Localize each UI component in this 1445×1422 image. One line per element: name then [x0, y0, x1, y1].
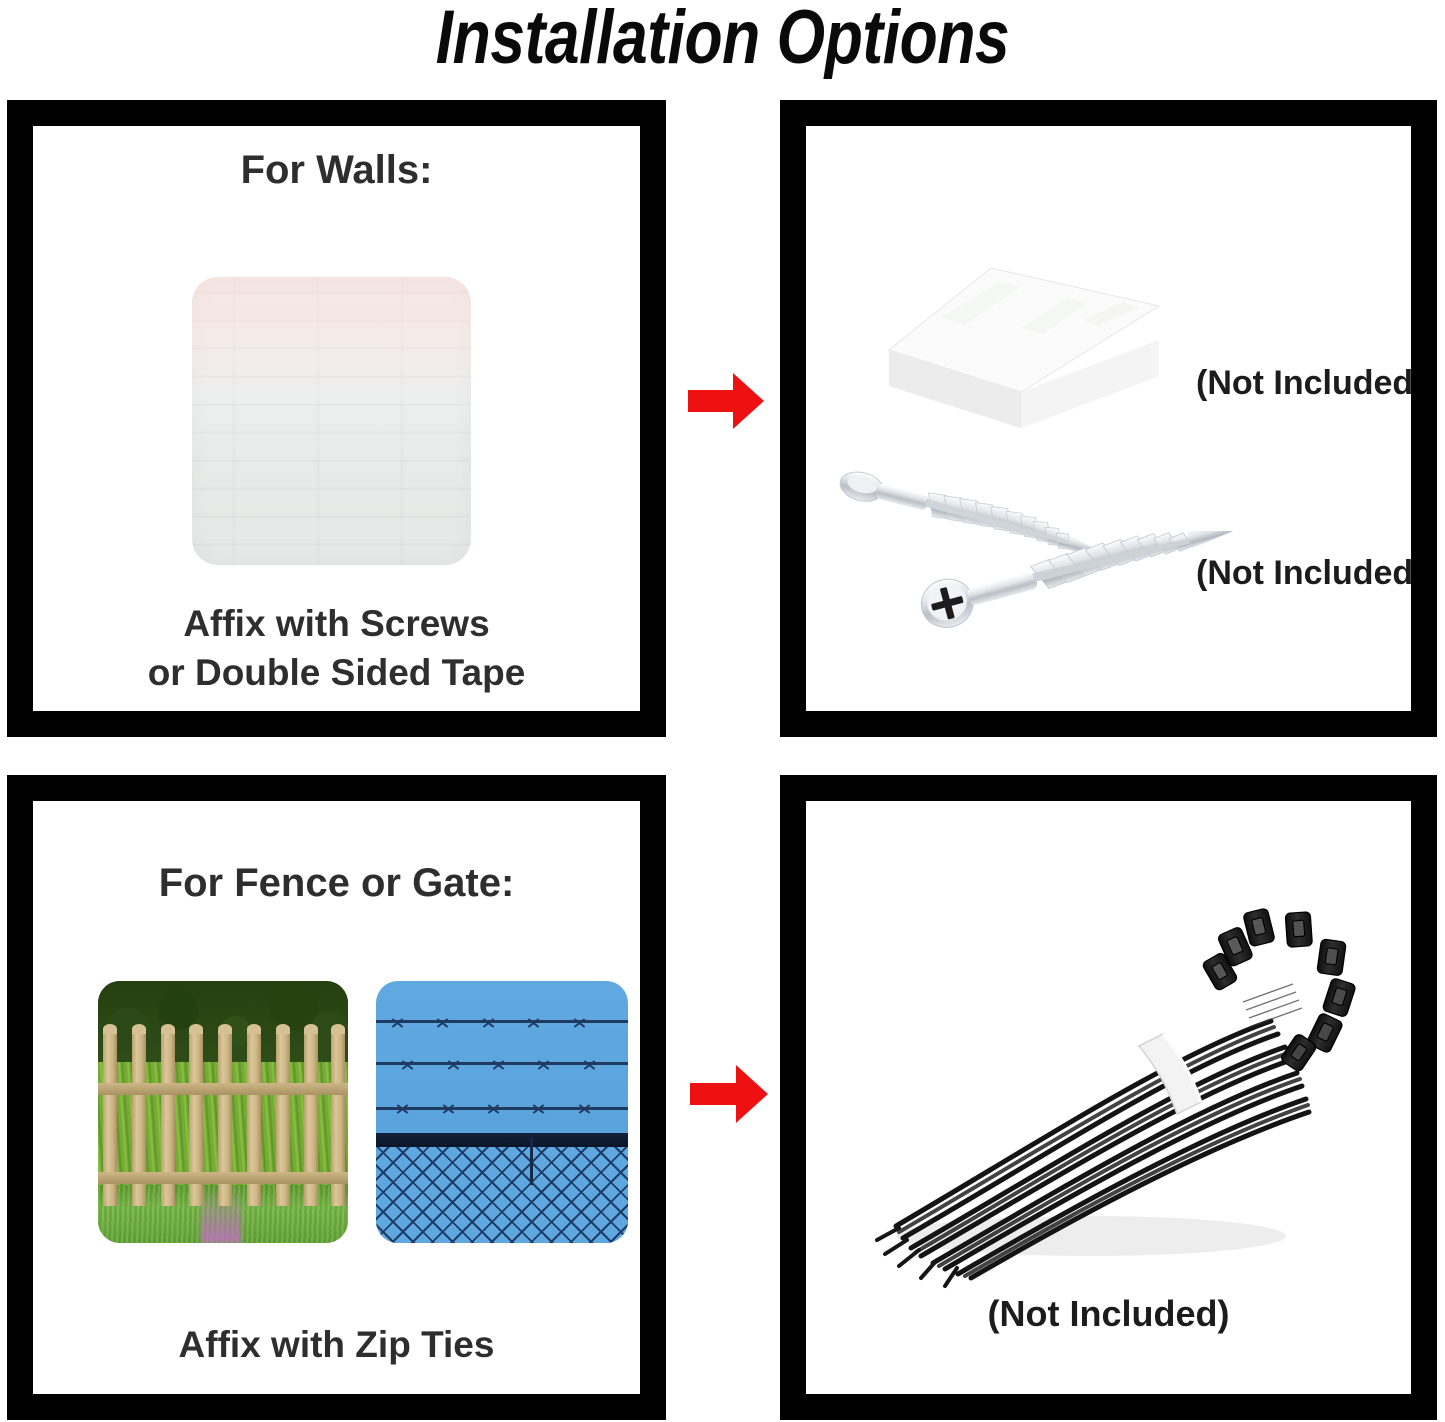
- wooden-picket-fence-photo: [98, 981, 348, 1243]
- walls-caption-line2: or Double Sided Tape: [33, 647, 640, 698]
- page-title: Installation Options: [130, 0, 1315, 80]
- fence-heading: For Fence or Gate:: [33, 861, 640, 906]
- walls-heading: For Walls:: [33, 148, 640, 193]
- white-brick-wall-swatch: [192, 277, 471, 565]
- black-zip-tie-bundle: [841, 906, 1361, 1296]
- ziptie-not-included-label: (Not Included): [806, 1289, 1411, 1339]
- red-right-arrow: [686, 370, 766, 432]
- panel-for-walls: For Walls: Affix with Screws or Double S…: [7, 100, 666, 737]
- double-sided-tape-stack: [871, 246, 1171, 446]
- panel-for-fence-or-gate: For Fence or Gate:: [7, 775, 666, 1420]
- screws-not-included-label: (Not Included): [1196, 554, 1411, 593]
- fence-caption-line1: Affix with Zip Ties: [33, 1319, 640, 1370]
- panel-wall-hardware: (Not Included): [780, 100, 1437, 737]
- walls-caption-line1: Affix with Screws: [33, 598, 640, 649]
- tape-not-included-label: (Not Included): [1196, 364, 1411, 403]
- panel-fence-hardware: (Not Included): [780, 775, 1437, 1420]
- red-right-arrow: [688, 1062, 770, 1126]
- chain-link-barbed-wire-fence-photo: [376, 981, 628, 1243]
